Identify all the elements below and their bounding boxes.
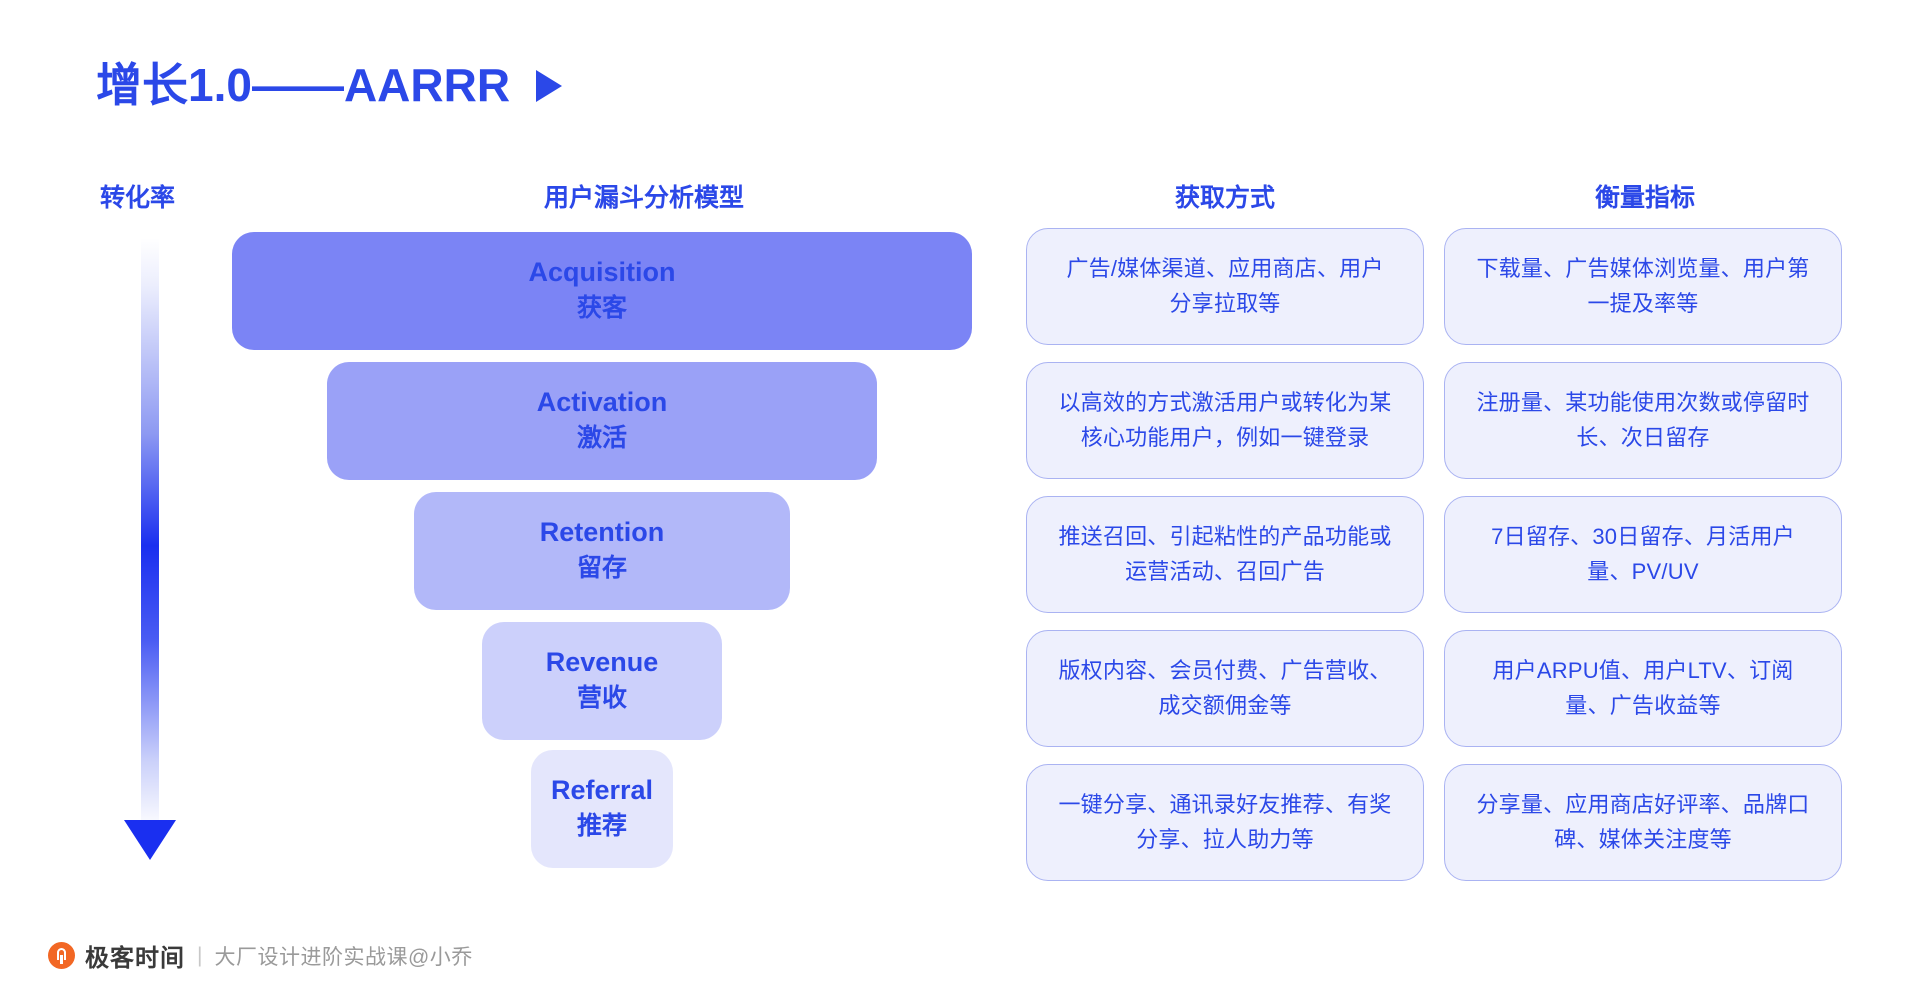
acquisition-method-card[interactable]: 广告/媒体渠道、应用商店、用户分享拉取等 xyxy=(1026,228,1424,345)
measurement-metric-card[interactable]: 下载量、广告媒体浏览量、用户第一提及率等 xyxy=(1444,228,1842,345)
column-header-acquisition-method: 获取方式 xyxy=(1025,178,1425,214)
acquisition-method-card-text: 一键分享、通讯录好友推荐、有奖分享、拉人助力等 xyxy=(1057,788,1393,856)
footer-subtitle: 大厂设计进阶实战课@小乔 xyxy=(214,941,472,971)
footer-logo-name: 极客时间 xyxy=(85,938,185,973)
acquisition-method-card-text: 版权内容、会员付费、广告营收、成交额佣金等 xyxy=(1057,654,1393,722)
funnel-stage-label-cn: 营收 xyxy=(577,683,627,714)
funnel-stage-activation[interactable]: Activation激活 xyxy=(327,362,877,480)
acquisition-method-card-text: 推送召回、引起粘性的产品功能或运营活动、召回广告 xyxy=(1057,520,1393,588)
acquisition-method-card[interactable]: 以高效的方式激活用户或转化为某核心功能用户，例如一键登录 xyxy=(1026,362,1424,479)
measurement-metric-card[interactable]: 分享量、应用商店好评率、品牌口碑、媒体关注度等 xyxy=(1444,764,1842,881)
funnel-stage-label-cn: 激活 xyxy=(577,423,627,454)
funnel-stage-label-en: Activation xyxy=(537,387,668,419)
measurement-metric-card[interactable]: 注册量、某功能使用次数或停留时长、次日留存 xyxy=(1444,362,1842,479)
acquisition-method-card-text: 以高效的方式激活用户或转化为某核心功能用户，例如一键登录 xyxy=(1057,386,1393,454)
funnel-stage-label-en: Acquisition xyxy=(529,257,676,289)
page-title: 增长1.0——AARRR xyxy=(96,62,562,108)
funnel-stage-referral[interactable]: Referral推荐 xyxy=(531,750,673,868)
conversion-arrow-line xyxy=(141,238,159,830)
measurement-metric-card[interactable]: 用户ARPU值、用户LTV、订阅量、广告收益等 xyxy=(1444,630,1842,747)
acquisition-method-card[interactable]: 推送召回、引起粘性的产品功能或运营活动、召回广告 xyxy=(1026,496,1424,613)
funnel-stage-label-en: Revenue xyxy=(546,647,659,679)
geekbang-logo-icon xyxy=(48,942,75,969)
funnel-stage-label-en: Retention xyxy=(540,517,665,549)
measurement-metric-card[interactable]: 7日留存、30日留存、月活用户量、PV/UV xyxy=(1444,496,1842,613)
conversion-arrow-head-icon xyxy=(124,820,176,860)
conversion-arrow xyxy=(132,238,168,888)
play-triangle-icon xyxy=(536,70,562,102)
funnel-stage-label-cn: 留存 xyxy=(577,553,627,584)
measurement-metric-card-text: 分享量、应用商店好评率、品牌口碑、媒体关注度等 xyxy=(1475,788,1811,856)
column-header-funnel: 用户漏斗分析模型 xyxy=(484,178,804,214)
slide-canvas: 增长1.0——AARRR 转化率 用户漏斗分析模型 获取方式 衡量指标 Acqu… xyxy=(0,0,1920,984)
measurement-metric-card-text: 用户ARPU值、用户LTV、订阅量、广告收益等 xyxy=(1475,654,1811,722)
measurement-metric-card-text: 7日留存、30日留存、月活用户量、PV/UV xyxy=(1475,520,1811,588)
funnel-stage-label-en: Referral xyxy=(551,775,653,807)
funnel-stage-retention[interactable]: Retention留存 xyxy=(414,492,790,610)
page-title-text: 增长1.0——AARRR xyxy=(96,62,510,108)
measurement-metric-card-text: 注册量、某功能使用次数或停留时长、次日留存 xyxy=(1475,386,1811,454)
footer-separator: | xyxy=(197,944,202,968)
footer: 极客时间 | 大厂设计进阶实战课@小乔 xyxy=(48,938,473,973)
acquisition-method-card[interactable]: 版权内容、会员付费、广告营收、成交额佣金等 xyxy=(1026,630,1424,747)
funnel-stage-revenue[interactable]: Revenue营收 xyxy=(482,622,722,740)
acquisition-method-card-text: 广告/媒体渠道、应用商店、用户分享拉取等 xyxy=(1057,252,1393,320)
funnel-stage-acquisition[interactable]: Acquisition获客 xyxy=(232,232,972,350)
column-header-conversion: 转化率 xyxy=(100,178,175,214)
acquisition-method-card[interactable]: 一键分享、通讯录好友推荐、有奖分享、拉人助力等 xyxy=(1026,764,1424,881)
measurement-metric-card-text: 下载量、广告媒体浏览量、用户第一提及率等 xyxy=(1475,252,1811,320)
column-header-metrics: 衡量指标 xyxy=(1445,178,1845,214)
funnel-stage-label-cn: 获客 xyxy=(577,293,627,324)
funnel-stage-label-cn: 推荐 xyxy=(577,811,627,842)
